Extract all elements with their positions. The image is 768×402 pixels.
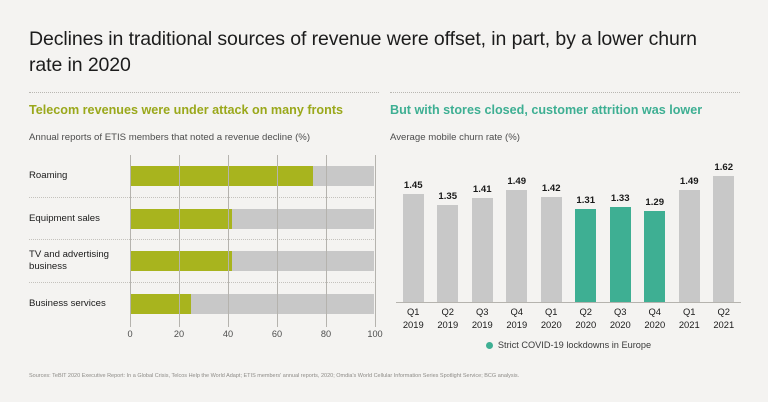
horizontal-bar-fill: [130, 166, 313, 186]
vertical-bar-column: 1.35: [437, 160, 458, 302]
category-label-line: Q4: [500, 306, 535, 319]
x-axis-tick-label: 100: [367, 329, 382, 339]
category-label-line: Q1: [534, 306, 569, 319]
vertical-chart-category: Q12019: [396, 306, 431, 331]
horizontal-bar-track: [130, 209, 374, 229]
category-label-line: 2021: [707, 319, 742, 332]
horizontal-bar-fill: [130, 251, 232, 271]
horizontal-bar-row-label: TV and advertising business: [29, 249, 125, 273]
vertical-bar-value-label: 1.29: [645, 197, 664, 208]
horizontal-bar-fill: [130, 209, 232, 229]
x-axis-tick-label: 60: [272, 329, 282, 339]
vertical-chart-category: Q32019: [465, 306, 500, 331]
vertical-chart-category-labels: Q12019Q22019Q32019Q42019Q12020Q22020Q320…: [396, 306, 741, 336]
category-label-line: 2020: [569, 319, 604, 332]
chart-legend: Strict COVID-19 lockdowns in Europe: [396, 340, 741, 350]
x-axis-tick-label: 20: [174, 329, 184, 339]
horizontal-bar-chart: RoamingEquipment salesTV and advertising…: [29, 155, 374, 325]
vertical-bar-value-label: 1.41: [473, 184, 492, 195]
source-note: Sources: TeBIT 2020 Executive Report: In…: [29, 372, 739, 380]
category-label-line: Q4: [638, 306, 673, 319]
vertical-bar: [403, 194, 424, 302]
x-axis-tick-label: 40: [223, 329, 233, 339]
vertical-bar-value-label: 1.35: [438, 191, 457, 202]
vertical-bar-value-label: 1.62: [714, 162, 733, 173]
horizontal-bar-track: [130, 251, 374, 271]
vertical-bar: [713, 176, 734, 302]
horizontal-bar-row: Equipment sales: [29, 198, 374, 241]
right-panel-title: But with stores closed, customer attriti…: [390, 102, 740, 118]
vertical-chart-category: Q12021: [672, 306, 707, 331]
vertical-bar-chart: 1.451.351.411.491.421.311.331.291.491.62: [396, 160, 741, 302]
page-headline: Declines in traditional sources of reven…: [29, 26, 729, 78]
vertical-bar-value-label: 1.45: [404, 180, 423, 191]
vertical-bar-column: 1.33: [610, 160, 631, 302]
horizontal-bar-row-label: Equipment sales: [29, 213, 125, 225]
category-label-line: Q2: [707, 306, 742, 319]
category-label-line: Q1: [396, 306, 431, 319]
right-panel-subtitle: Average mobile churn rate (%): [390, 131, 740, 144]
category-label-line: 2021: [672, 319, 707, 332]
vertical-bar-column: 1.42: [541, 160, 562, 302]
horizontal-bar-row-label: Roaming: [29, 170, 125, 182]
vertical-bar-value-label: 1.31: [576, 195, 595, 206]
vertical-chart-category: Q42020: [638, 306, 673, 331]
vertical-bar-column: 1.49: [679, 160, 700, 302]
category-label-line: 2020: [534, 319, 569, 332]
horizontal-bar-track: [130, 294, 374, 314]
vertical-bar-column: 1.62: [713, 160, 734, 302]
right-panel-divider: [390, 92, 740, 93]
vertical-bar-value-label: 1.33: [611, 193, 630, 204]
horizontal-bar-row: TV and advertising business: [29, 240, 374, 283]
gridline: [375, 155, 376, 327]
horizontal-bar-row: Roaming: [29, 155, 374, 198]
horizontal-bar-fill: [130, 294, 191, 314]
horizontal-bar-row-label: Business services: [29, 298, 125, 310]
category-label-line: 2019: [431, 319, 466, 332]
category-label-line: Q3: [603, 306, 638, 319]
legend-dot-icon: [486, 342, 493, 349]
x-axis-tick-label: 0: [127, 329, 132, 339]
category-label-line: Q2: [431, 306, 466, 319]
vertical-bar: [541, 197, 562, 302]
category-label-line: 2020: [603, 319, 638, 332]
x-axis-tick-label: 80: [321, 329, 331, 339]
category-label-line: 2019: [396, 319, 431, 332]
vertical-bar-column: 1.45: [403, 160, 424, 302]
vertical-bar-value-label: 1.42: [542, 183, 561, 194]
horizontal-chart-x-axis: 020406080100: [130, 329, 375, 347]
vertical-bar-value-label: 1.49: [680, 176, 699, 187]
vertical-bar-value-label: 1.49: [507, 176, 526, 187]
vertical-bar-column: 1.41: [472, 160, 493, 302]
category-label-line: Q3: [465, 306, 500, 319]
left-panel-title: Telecom revenues were under attack on ma…: [29, 102, 379, 118]
category-label-line: 2020: [638, 319, 673, 332]
vertical-chart-category: Q22020: [569, 306, 604, 331]
vertical-chart-category: Q22021: [707, 306, 742, 331]
vertical-bar-column: 1.31: [575, 160, 596, 302]
left-panel-divider: [29, 92, 379, 93]
right-panel-header: But with stores closed, customer attriti…: [390, 92, 740, 144]
vertical-bar: [437, 205, 458, 302]
left-panel-header: Telecom revenues were under attack on ma…: [29, 92, 379, 144]
vertical-chart-category: Q42019: [500, 306, 535, 331]
horizontal-bar-track: [130, 166, 374, 186]
left-panel-subtitle: Annual reports of ETIS members that note…: [29, 131, 379, 144]
vertical-bar: [679, 190, 700, 302]
legend-label: Strict COVID-19 lockdowns in Europe: [498, 340, 651, 350]
vertical-bar-column: 1.29: [644, 160, 665, 302]
vertical-bar-highlighted: [610, 207, 631, 302]
category-label-line: Q1: [672, 306, 707, 319]
vertical-bar: [506, 190, 527, 302]
vertical-bar-column: 1.49: [506, 160, 527, 302]
category-label-line: 2019: [465, 319, 500, 332]
horizontal-bar-row: Business services: [29, 283, 374, 326]
vertical-chart-baseline: [396, 302, 741, 303]
category-label-line: Q2: [569, 306, 604, 319]
vertical-bar-highlighted: [644, 211, 665, 302]
vertical-chart-category: Q32020: [603, 306, 638, 331]
category-label-line: 2019: [500, 319, 535, 332]
vertical-chart-category: Q12020: [534, 306, 569, 331]
vertical-bar-highlighted: [575, 209, 596, 302]
vertical-bar: [472, 198, 493, 302]
vertical-chart-category: Q22019: [431, 306, 466, 331]
